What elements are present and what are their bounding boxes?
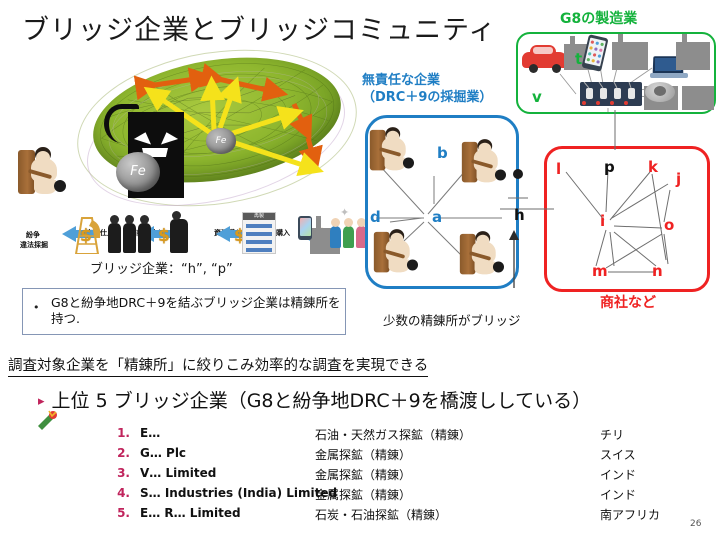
security-guards-icons: [108, 214, 154, 254]
bank-bar-1: [246, 224, 272, 228]
car-wheel-front: [529, 64, 538, 73]
production-line-icon: [580, 82, 642, 106]
fe-node-center: Fe: [206, 128, 236, 154]
node-label-k: k: [648, 158, 658, 176]
miner-figure-drc-3: [374, 230, 416, 276]
miner-figure-drc-1: [370, 128, 412, 174]
fe-ore-ball: Fe: [116, 152, 160, 192]
list-heading: ▸上位 5 ブリッジ企業（G8と紛争地DRC＋9を橋渡ししている）: [38, 386, 591, 413]
factory-icon-g8-5: [682, 86, 714, 110]
slide-canvas: ブリッジ企業とブリッジコミュニティ: [0, 0, 720, 540]
smartphone-icon-chain: [298, 216, 312, 240]
dollar-symbol-2: $: [158, 226, 170, 246]
guard-3: [138, 223, 151, 253]
row-number: 4.: [110, 486, 130, 500]
node-label-t: t: [575, 50, 582, 68]
blue-box-title: 無責任な企業 （DRC＋9の採掘業）: [362, 72, 492, 106]
country: チリ: [600, 426, 624, 443]
node-label-n: n: [652, 262, 663, 280]
oil-derrick-icon: [72, 212, 106, 254]
industry: 金属探鉱（精錬）: [315, 486, 411, 503]
company-name: S… Industries (India) Limited: [140, 486, 337, 500]
node-label-h: h: [514, 206, 525, 224]
miner-figure-left: [18, 148, 64, 198]
page-title: ブリッジ企業とブリッジコミュニティ: [22, 8, 496, 47]
company-name: V… Limited: [140, 466, 216, 480]
tablet-screen: [585, 38, 606, 67]
factory-smokestack-3: [682, 34, 687, 44]
consumer-1: [330, 226, 341, 248]
company-name: E…: [140, 426, 160, 440]
node-label-p: p: [604, 158, 615, 176]
monster-eye-right: [158, 129, 178, 144]
miner-legs: [34, 180, 56, 194]
car-icon: [522, 44, 570, 74]
green-box-title: G8の製造業: [560, 8, 637, 28]
node-label-m: m: [592, 262, 608, 280]
blue-box-caption: 少数の精錬所がブリッジ: [383, 310, 521, 329]
red-box-network-lines: [544, 146, 706, 288]
node-label-o: o: [664, 216, 674, 234]
industry: 金属探鉱（精錬）: [315, 446, 411, 463]
miner-head: [476, 235, 489, 247]
row-number: 3.: [110, 466, 130, 480]
guard-2: [123, 223, 136, 253]
shackle-ball-icon: [403, 157, 414, 168]
row-number: 2.: [110, 446, 130, 460]
h-node-marker: [508, 168, 528, 202]
bridge-company-caption: ブリッジ企業：“h”, “p”: [90, 258, 233, 277]
miner-legs: [385, 157, 405, 170]
monster-eye-left: [134, 129, 154, 144]
miner-legs: [477, 169, 497, 182]
table-row: 4. S… Industries (India) Limited 金属探鉱（精錬…: [110, 486, 710, 506]
bullet-triangle-icon: ▸: [38, 394, 45, 409]
node-label-j: j: [676, 170, 681, 188]
red-box-caption: 商社など: [600, 292, 656, 312]
robot-vacuum-icon: [645, 82, 675, 104]
shackle-ball-icon: [54, 180, 66, 192]
miner-head: [478, 143, 491, 155]
miner-head: [390, 233, 403, 245]
bank-bar-2: [246, 232, 272, 236]
sub-heading: 調査対象企業を「精錬所」に絞りこみ効率的な調査を実現できる: [8, 354, 428, 377]
node-label-v: v: [532, 88, 542, 106]
blue-title-line1: 無責任な企業: [362, 72, 492, 89]
factory-icon-g8-3: [676, 42, 710, 70]
node-label-l: l: [556, 160, 561, 178]
page-number: 26: [690, 519, 701, 529]
country: インド: [600, 486, 636, 503]
company-name: E… R… Limited: [140, 506, 241, 520]
blue-title-line2: （DRC＋9の採掘業）: [362, 89, 492, 106]
laptop-base: [650, 73, 688, 78]
shackle-ball-icon: [407, 259, 418, 270]
table-row: 1. E… 石油・天然ガス探鉱（精錬） チリ: [110, 426, 710, 446]
trader-figure-icon: [170, 210, 192, 254]
miner-legs: [389, 259, 409, 272]
node-label-b: b: [437, 144, 448, 162]
car-window: [533, 47, 553, 54]
factory-smokestack-2: [618, 34, 623, 44]
miner-figure-drc-4: [460, 232, 502, 278]
list-heading-text: 上位 5 ブリッジ企業（G8と紛争地DRC＋9を橋渡ししている）: [52, 390, 592, 412]
shackle-ball-icon: [495, 169, 506, 180]
green-red-connector: [608, 110, 622, 150]
node-label-a: a: [432, 208, 442, 226]
note-bullet: •: [33, 301, 40, 314]
industry: 金属探鉱（精錬）: [315, 466, 411, 483]
table-row: 5. E… R… Limited 石炭・石油探鉱（精錬） 南アフリカ: [110, 506, 710, 526]
consumer-2: [343, 226, 354, 248]
industry: 石炭・石油探鉱（精錬）: [315, 506, 447, 523]
conflict-rocket-icon: [36, 410, 58, 430]
row-number: 5.: [110, 506, 130, 520]
country: 南アフリカ: [600, 506, 660, 523]
trader-body: [170, 219, 188, 253]
row-number: 1.: [110, 426, 130, 440]
guard-1: [108, 223, 121, 253]
refinery-building-icon: 再製: [242, 212, 276, 254]
miner-head: [36, 151, 50, 164]
bank-bar-3: [246, 240, 272, 244]
node-label-i: i: [600, 212, 605, 230]
country: インド: [600, 466, 636, 483]
table-row: 2. G… Plc 金属探鉱（精錬） スイス: [110, 446, 710, 466]
note-box: • G8と紛争地DRC＋9を結ぶブリッジ企業は精錬所を持つ.: [22, 288, 346, 335]
node-label-d: d: [370, 208, 381, 226]
factory-icon-g8-2: [612, 42, 648, 70]
factory-smokestack-1: [570, 36, 575, 46]
car-wheel-rear: [552, 64, 561, 73]
country: スイス: [600, 446, 636, 463]
phone-screen: [300, 218, 311, 236]
refinery-label-tag: 再製: [243, 213, 275, 220]
note-text: G8と紛争地DRC＋9を結ぶブリッジ企業は精錬所を持つ.: [51, 295, 341, 327]
upward-bridge-arrow: [500, 226, 530, 290]
sparkle-icon: ✦: [340, 206, 349, 219]
table-row: 3. V… Limited 金属探鉱（精錬） インド: [110, 466, 710, 486]
top-bridge-companies-table: 1. E… 石油・天然ガス探鉱（精錬） チリ 2. G… Plc 金属探鉱（精錬…: [110, 426, 710, 526]
miner-head: [386, 131, 399, 143]
miner-figure-drc-2: [462, 140, 504, 186]
company-name: G… Plc: [140, 446, 186, 460]
miner-legs: [475, 261, 495, 274]
vacuum-center: [654, 86, 666, 96]
industry: 石油・天然ガス探鉱（精錬）: [315, 426, 471, 443]
bank-bar-4: [246, 248, 272, 252]
